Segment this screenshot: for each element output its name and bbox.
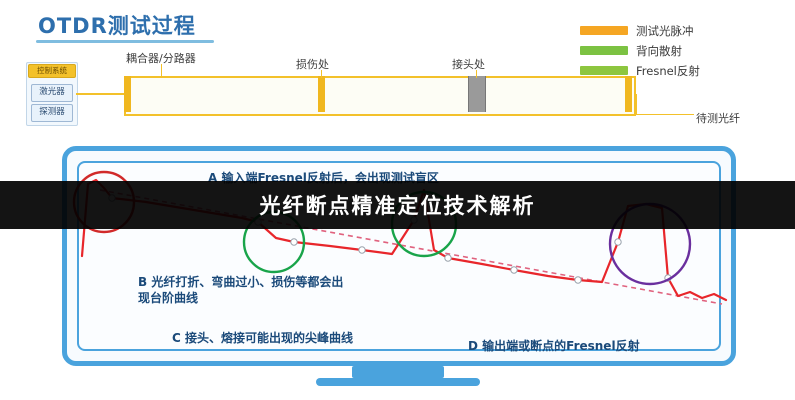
damage-marker bbox=[318, 76, 325, 112]
joint-marker bbox=[468, 76, 486, 112]
otdr-schematic: 控制系统 激光器 探测器 耦合器/分路器 损伤处 接头处 待测光纤 bbox=[20, 48, 660, 148]
fiber-end-marker bbox=[625, 76, 632, 112]
laser-module: 激光器 bbox=[31, 84, 73, 102]
trace-marker bbox=[511, 267, 517, 273]
coupler-leader-line bbox=[161, 64, 162, 78]
control-system-label: 控制系统 bbox=[28, 64, 76, 78]
title-underline bbox=[36, 40, 214, 43]
label-damage: 损伤处 bbox=[296, 56, 329, 72]
diagram-canvas: OTDR测试过程 测试光脉冲 背向散射 Fresnel反射 控制系统 激光器 探… bbox=[0, 0, 795, 400]
coupler-marker bbox=[124, 76, 131, 112]
fiber-leader-line-h bbox=[636, 114, 694, 115]
annotation-b: B 光纤打折、弯曲过小、损伤等都会出 现台阶曲线 bbox=[138, 274, 343, 306]
annotation-c: C 接头、熔接可能出现的尖峰曲线 bbox=[172, 330, 353, 346]
fiber-tube bbox=[124, 76, 636, 116]
detector-module: 探测器 bbox=[31, 104, 73, 122]
page-title: OTDR测试过程 bbox=[38, 10, 196, 40]
trace-marker bbox=[575, 277, 581, 283]
label-fiber-under-test: 待测光纤 bbox=[696, 110, 740, 126]
legend-item: 测试光脉冲 bbox=[580, 22, 780, 39]
monitor-stand-base bbox=[316, 378, 480, 386]
legend-swatch-pulse bbox=[580, 26, 628, 35]
trace-marker bbox=[445, 255, 451, 261]
fiber-lead-line bbox=[76, 93, 128, 95]
trace-marker bbox=[291, 239, 297, 245]
trace-marker bbox=[359, 247, 365, 253]
monitor-stand bbox=[352, 366, 444, 378]
label-coupler: 耦合器/分路器 bbox=[126, 50, 196, 66]
banner-title: 光纤断点精准定位技术解析 bbox=[0, 181, 795, 229]
annotation-d: D 输出端或断点的Fresnel反射 bbox=[468, 338, 640, 354]
trace-marker bbox=[615, 239, 621, 245]
fiber-leader-line-v bbox=[636, 94, 637, 114]
legend-label-pulse: 测试光脉冲 bbox=[636, 23, 694, 39]
label-joint: 接头处 bbox=[452, 56, 485, 72]
